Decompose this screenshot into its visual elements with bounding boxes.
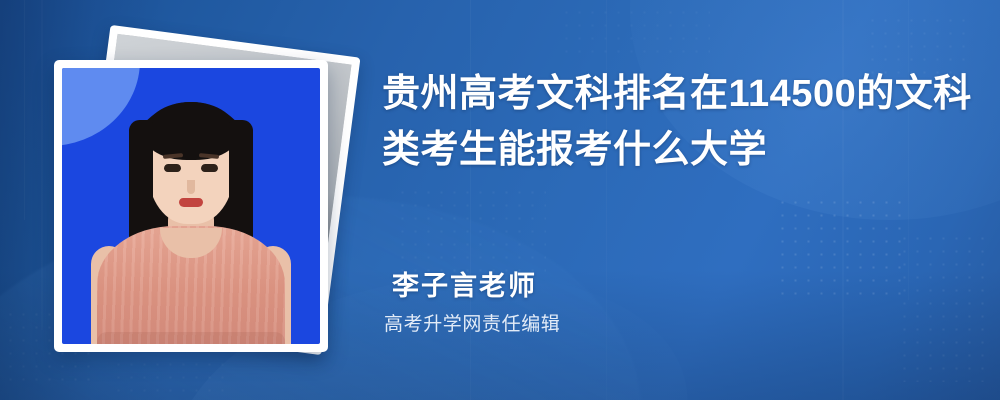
portrait-lips (179, 198, 203, 207)
page-title-line-1: 贵州高考文科排名在114500的文科 (382, 66, 976, 122)
portrait-photo (62, 68, 320, 344)
article-banner: 贵州高考文科排名在114500的文科 类考生能报考什么大学 李子言老师 高考升学… (0, 0, 1000, 400)
portrait-nose (187, 180, 195, 194)
page-title: 贵州高考文科排名在114500的文科 类考生能报考什么大学 (382, 66, 976, 178)
page-title-line-2: 类考生能报考什么大学 (382, 122, 976, 178)
portrait-hair-front (144, 102, 238, 160)
author-block: 李子言老师 高考升学网责任编辑 (392, 268, 560, 338)
author-name: 李子言老师 (392, 268, 560, 304)
portrait-dress-waist (97, 332, 285, 344)
author-role: 高考升学网责任编辑 (384, 312, 560, 338)
portrait-eye-right (201, 164, 218, 172)
portrait-eye-left (164, 164, 181, 172)
photo-card-front (54, 60, 328, 352)
portrait-figure (62, 68, 320, 344)
banner-text-content: 贵州高考文科排名在114500的文科 类考生能报考什么大学 李子言老师 高考升学… (382, 0, 976, 400)
photo-card-stack (48, 32, 360, 370)
